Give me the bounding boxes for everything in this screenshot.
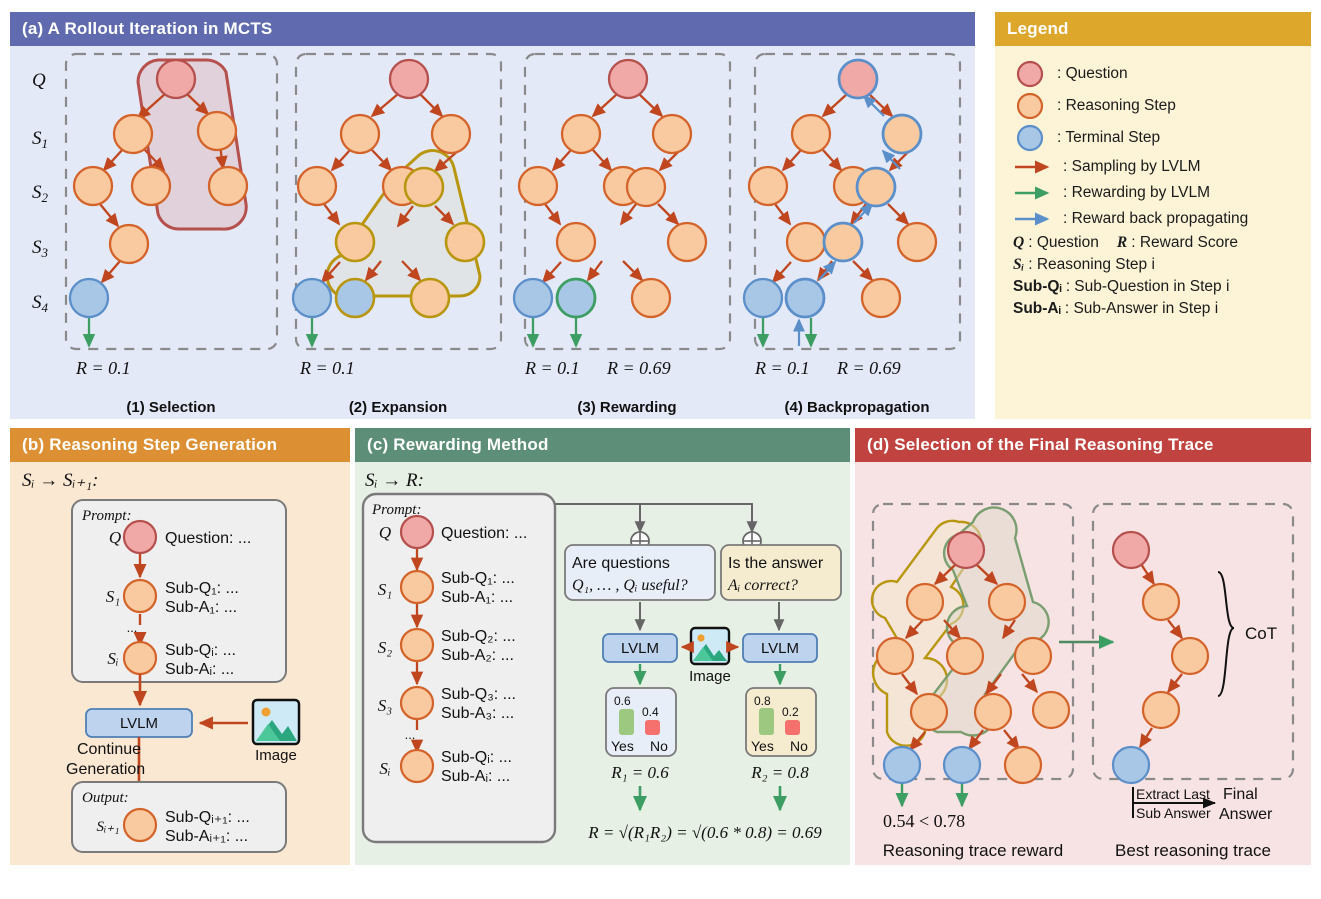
panel-b-body: Sᵢ → Sᵢ₊₁: Prompt: ... Q Question: ... S… (10, 462, 350, 899)
legend-row-symbol-q-r: Q : Question R : Reward Score (1013, 232, 1321, 254)
panel-c-row-2-line-0: Sub-Q₂: ... (441, 628, 516, 645)
panel-c-image-label: Image (689, 668, 731, 685)
panel-c-ellipsis: ... (405, 727, 416, 742)
panel-b-output-line-0: Sub-Qᵢ₊₁: ... (165, 809, 250, 826)
panel-c-qbox-left-line2: Q₁, … , Qᵢ useful? (572, 577, 688, 594)
panel-d-cot-label: CoT (1245, 624, 1277, 643)
panel-c-left-no-label: No (650, 738, 668, 754)
panel-c-lvlm-left: LVLM (621, 640, 659, 657)
panel-c-diagram: Sᵢ → R: Prompt: ... Q Question: ... S₁ S… (355, 462, 850, 867)
reward-label-backprop-1: R = 0.1 (754, 358, 810, 378)
panel-d-extract-line1: Extract Last (1136, 786, 1210, 802)
bar-chart-left: 0.6 0.4 Yes No (606, 688, 676, 756)
panel-c-row-1-line-0: Sub-Q₁: ... (441, 570, 515, 587)
panel-c-left-yes-value: 0.6 (614, 694, 631, 708)
panel-c-row-1-node: S₁ (378, 580, 392, 599)
panel-b-row-2-line-0: Sub-Qᵢ: ... (165, 642, 236, 659)
image-icon (253, 700, 299, 744)
subcaption-selection: (1) Selection (126, 399, 215, 416)
panel-c-row-0-line-0: Question: ... (441, 525, 527, 542)
legend-row-sampling: : Sampling by LVLM (1013, 154, 1321, 180)
panel-c-right-no-label: No (790, 738, 808, 754)
legend-symbol-subq: Sub-Qᵢ (1013, 278, 1062, 296)
panel-c-r2: R₂ = 0.8 (750, 763, 809, 782)
panel-b-row-0-line-0: Question: ... (165, 530, 251, 547)
legend-title: Legend (995, 12, 1311, 46)
panel-c-row-4-node: Sᵢ (379, 759, 390, 778)
panel-b-row-0-node: Q (109, 528, 121, 547)
panel-c-qbox-left-line1: Are questions (572, 555, 670, 572)
subpanel-rewarding: R = 0.1 R = 0.69 (514, 54, 730, 378)
legend-symbol-r: R (1117, 234, 1127, 252)
panel-a-rollout-iteration: (a) A Rollout Iteration in MCTS Q S1 S2 … (10, 12, 975, 419)
legend-row-rewarding: : Rewarding by LVLM (1013, 180, 1321, 206)
panel-c-row-4-line-1: Sub-Aᵢ: ... (441, 768, 510, 785)
legend-symbol-q-text: : Question (1028, 234, 1099, 252)
subcaption-backpropagation: (4) Backpropagation (784, 399, 929, 416)
panel-b-prompt-label: Prompt: (81, 508, 131, 524)
svg-text:S4: S4 (32, 292, 49, 315)
subpanel-expansion: R = 0.1 (293, 54, 501, 378)
legend-symbol-r-text: : Reward Score (1131, 234, 1238, 252)
panel-c-formula: R = √(R₁R₂) = √(0.6 * 0.8) = 0.69 (587, 823, 822, 842)
panel-c-row-4-line-0: Sub-Qᵢ: ... (441, 749, 512, 766)
panel-c-relation: Sᵢ → R: (365, 470, 424, 491)
panel-c-right-yes-value: 0.8 (754, 694, 771, 708)
legend-row-question: : Question (1013, 58, 1321, 90)
panel-c-lvlm-right: LVLM (761, 640, 799, 657)
panel-c-left-no-value: 0.4 (642, 705, 659, 719)
panel-c-row-2-node: S₂ (378, 638, 393, 657)
svg-text:Q: Q (32, 70, 46, 91)
panel-c-row-0-node: Q (379, 523, 391, 542)
legend-symbol-q: Q (1013, 234, 1024, 252)
svg-text:S1: S1 (32, 128, 48, 151)
svg-text:S3: S3 (32, 237, 49, 260)
panel-b-row-2-line-1: Sub-Aᵢ: ... (165, 661, 234, 678)
panel-b-title: (b) Reasoning Step Generation (10, 428, 350, 462)
subpanel-backpropagation: R = 0.1 R = 0.69 (744, 54, 960, 378)
panel-c-rewarding-method: (c) Rewarding Method Sᵢ → R: Prompt: ...… (355, 428, 850, 865)
panel-c-qbox-right-line1: Is the answer (728, 555, 824, 572)
sampling-arrow-icon (1013, 155, 1055, 179)
legend-body: : Question : Reasoning Step : Terminal S… (995, 46, 1321, 465)
svg-text:S2: S2 (32, 182, 49, 205)
panel-b-row-2-node: Sᵢ (107, 649, 118, 668)
panel-b-lvlm-label: LVLM (120, 715, 158, 732)
panel-d-extract-line2: Sub Answer (1136, 805, 1211, 821)
legend-label-reasoning-step: : Reasoning Step (1057, 97, 1176, 115)
legend-label-question: : Question (1057, 65, 1128, 83)
legend-symbol-suba-text: : Sub-Answer in Step i (1065, 300, 1218, 318)
subpanel-selection: R = 0.1 (66, 54, 277, 378)
panel-b-ellipsis: ... (127, 620, 138, 635)
panel-d-body: 0.54 < 0.78 CoT Extract Last Sub Answer … (855, 462, 1311, 899)
legend-panel: Legend : Question : Reasoning Step : Ter… (995, 12, 1311, 419)
legend-row-terminal-step: : Terminal Step (1013, 122, 1321, 154)
panel-c-row-3-node: S₃ (378, 696, 393, 715)
panel-c-title: (c) Rewarding Method (355, 428, 850, 462)
panel-b-continue-2: Generation (66, 761, 145, 778)
reward-label-backprop-2: R = 0.69 (836, 358, 901, 378)
terminal-node-icon (1013, 123, 1047, 153)
legend-row-symbol-suba: Sub-Aᵢ : Sub-Answer in Step i (1013, 298, 1321, 320)
panel-a-title: (a) A Rollout Iteration in MCTS (10, 12, 975, 46)
panel-c-row-3-line-1: Sub-A₃: ... (441, 705, 514, 722)
legend-symbol-si-text: : Reasoning Step i (1028, 256, 1155, 274)
panel-d-final-line2: Answer (1219, 806, 1273, 823)
panel-d-left-caption: Reasoning trace reward (883, 841, 1063, 860)
panel-d-diagram: 0.54 < 0.78 CoT Extract Last Sub Answer … (855, 462, 1311, 867)
panel-b-output-line-1: Sub-Aᵢ₊₁: ... (165, 828, 248, 845)
panel-c-body: Sᵢ → R: Prompt: ... Q Question: ... S₁ S… (355, 462, 850, 899)
panel-b-continue-1: Continue (77, 741, 141, 758)
panel-b-reasoning-step-generation: (b) Reasoning Step Generation Sᵢ → Sᵢ₊₁:… (10, 428, 350, 865)
legend-label-rewarding: : Rewarding by LVLM (1063, 184, 1210, 202)
panel-d-final-trace-selection: (d) Selection of the Final Reasoning Tra… (855, 428, 1311, 865)
legend-label-sampling: : Sampling by LVLM (1063, 158, 1201, 176)
subcaption-expansion: (2) Expansion (349, 399, 447, 416)
backprop-arrow-icon (1013, 207, 1055, 231)
question-node-icon (1013, 59, 1047, 89)
panel-b-diagram: Sᵢ → Sᵢ₊₁: Prompt: ... Q Question: ... S… (10, 462, 350, 867)
legend-row-backprop: : Reward back propagating (1013, 206, 1321, 232)
panel-d-right-caption: Best reasoning trace (1115, 841, 1271, 860)
image-icon (691, 628, 729, 664)
panel-b-output-node: Sᵢ₊₁ (96, 819, 119, 835)
reward-label-expansion: R = 0.1 (299, 358, 355, 378)
panel-c-right-no-value: 0.2 (782, 705, 799, 719)
panel-c-r1: R₁ = 0.6 (610, 763, 669, 782)
bar-chart-right: 0.8 0.2 Yes No (746, 688, 816, 756)
panel-c-right-yes-label: Yes (751, 738, 774, 754)
reward-label-rewarding-1: R = 0.1 (524, 358, 580, 378)
panel-d-title: (d) Selection of the Final Reasoning Tra… (855, 428, 1311, 462)
reasoning-node-icon (1013, 91, 1047, 121)
legend-label-backprop: : Reward back propagating (1063, 210, 1248, 228)
legend-row-symbol-subq: Sub-Qᵢ : Sub-Question in Step i (1013, 276, 1321, 298)
panel-c-qbox-right-line2: Aᵢ correct? (727, 577, 798, 594)
legend-label-terminal-step: : Terminal Step (1057, 129, 1160, 147)
legend-row-reasoning-step: : Reasoning Step (1013, 90, 1321, 122)
panel-d-final-line1: Final (1223, 786, 1258, 803)
panel-b-image-label: Image (255, 747, 297, 764)
panel-d-comparison: 0.54 < 0.78 (883, 811, 965, 831)
panel-b-relation: Sᵢ → Sᵢ₊₁: (22, 470, 98, 491)
panel-c-row-1-line-1: Sub-A₁: ... (441, 589, 513, 606)
panel-c-row-3-line-0: Sub-Q₃: ... (441, 686, 516, 703)
subcaption-rewarding: (3) Rewarding (577, 399, 676, 416)
reward-label-selection: R = 0.1 (75, 358, 131, 378)
panel-b-output-label: Output: (82, 790, 129, 806)
legend-symbol-si: Sᵢ (1013, 256, 1024, 274)
reward-label-rewarding-2: R = 0.69 (606, 358, 671, 378)
panel-b-row-1-node: S₁ (106, 587, 120, 606)
rewarding-arrow-icon (1013, 181, 1055, 205)
panel-c-left-yes-label: Yes (611, 738, 634, 754)
panel-a-body: Q S1 S2 S3 S4 (10, 46, 975, 453)
panel-c-row-2-line-1: Sub-A₂: ... (441, 647, 514, 664)
legend-row-symbol-si: Sᵢ : Reasoning Step i (1013, 254, 1321, 276)
legend-symbol-suba: Sub-Aᵢ (1013, 300, 1061, 318)
panel-b-row-1-line-1: Sub-A₁: ... (165, 599, 237, 616)
panel-b-row-1-line-0: Sub-Q₁: ... (165, 580, 239, 597)
legend-symbol-subq-text: : Sub-Question in Step i (1066, 278, 1230, 296)
panel-a-diagram: Q S1 S2 S3 S4 (10, 46, 975, 421)
